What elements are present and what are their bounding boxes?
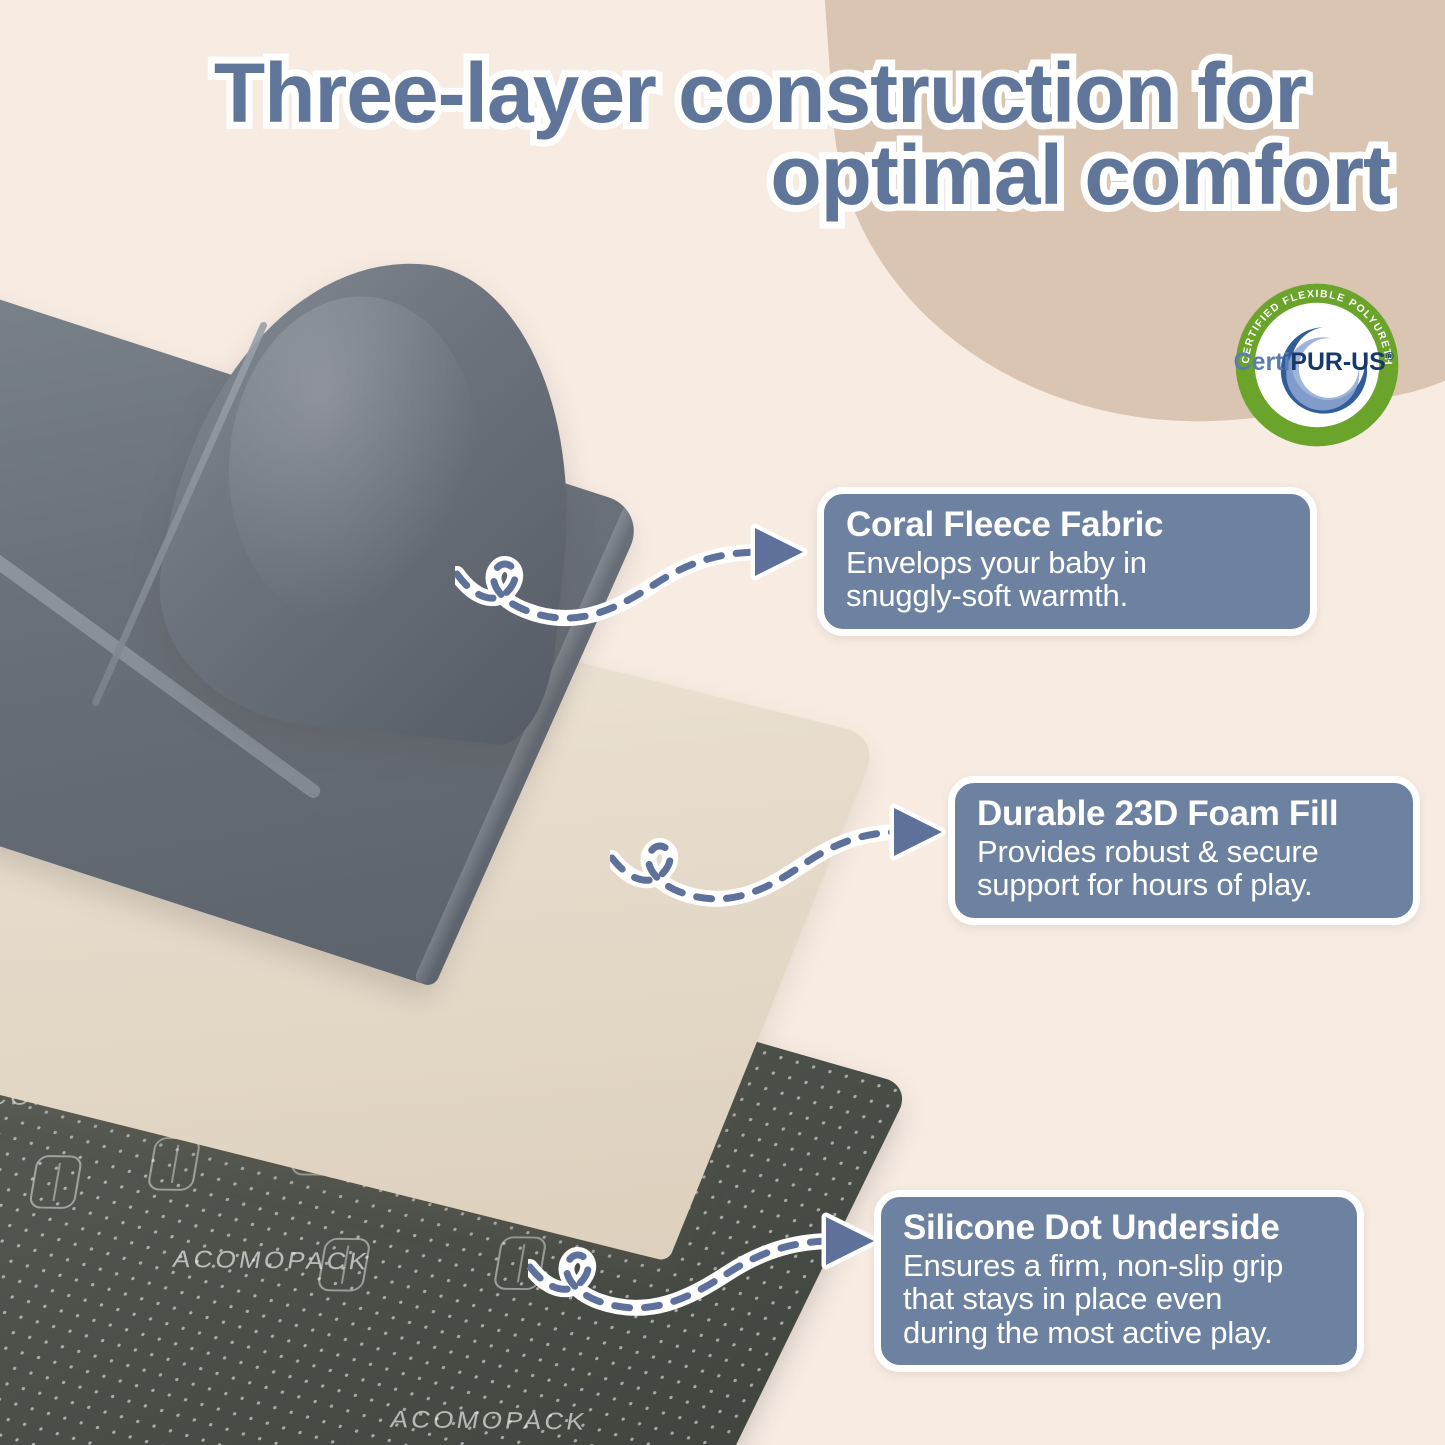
callout-heading: Coral Fleece Fabric <box>846 506 1290 544</box>
badge-logotype-suffix: PUR-US <box>1290 348 1385 376</box>
brand-watermark: ACOMOPACK <box>388 1406 589 1436</box>
callout-heading: Silicone Dot Underside <box>903 1209 1337 1247</box>
title-line-2: optimal comfort <box>120 134 1400 216</box>
callout-body-line: Envelops your baby in <box>846 546 1290 579</box>
certipur-us-badge-icon: CONTAINS CERTIFIED FLEXIBLE POLYURETHANE… <box>1234 282 1400 448</box>
badge-logotype: CertiPUR-US® <box>1234 348 1394 376</box>
callout-body: Envelops your baby in snuggly-soft warmt… <box>846 546 1290 613</box>
callout-body-line: support for hours of play. <box>977 868 1393 901</box>
callout-heading: Durable 23D Foam Fill <box>977 795 1393 833</box>
callout-silicone-dot-underside[interactable]: Silicone Dot Underside Ensures a firm, n… <box>874 1190 1364 1372</box>
silicone-chip-icon <box>146 1137 201 1191</box>
title-line-1: Three-layer construction for <box>120 52 1400 134</box>
callout-durable-23d-foam-fill[interactable]: Durable 23D Foam Fill Provides robust & … <box>948 776 1420 925</box>
badge-registered-mark: ® <box>1386 351 1394 363</box>
certipur-us-badge: CONTAINS CERTIFIED FLEXIBLE POLYURETHANE… <box>1234 282 1400 448</box>
badge-logotype-prefix: Certi <box>1234 348 1290 376</box>
callout-body-line: Ensures a firm, non-slip grip <box>903 1249 1337 1282</box>
callout-body-line: snuggly-soft warmth. <box>846 579 1290 612</box>
infographic-canvas: ACOMOPACK ACOMOPACK ACOMOPACK ACOMOPACK … <box>0 0 1445 1445</box>
product-photo: ACOMOPACK ACOMOPACK ACOMOPACK ACOMOPACK … <box>0 270 1000 1445</box>
callout-coral-fleece-fabric[interactable]: Coral Fleece Fabric Envelops your baby i… <box>817 487 1317 636</box>
coral-fleece-lifted-corner <box>147 240 594 749</box>
callout-body: Ensures a firm, non-slip grip that stays… <box>903 1249 1337 1349</box>
callout-body-line: during the most active play. <box>903 1316 1337 1349</box>
callout-body: Provides robust & secure support for hou… <box>977 835 1393 902</box>
silicone-chip-icon <box>316 1238 371 1292</box>
page-title: Three-layer construction for optimal com… <box>120 52 1400 217</box>
callout-body-line: that stays in place even <box>903 1282 1337 1315</box>
callout-body-line: Provides robust & secure <box>977 835 1393 868</box>
